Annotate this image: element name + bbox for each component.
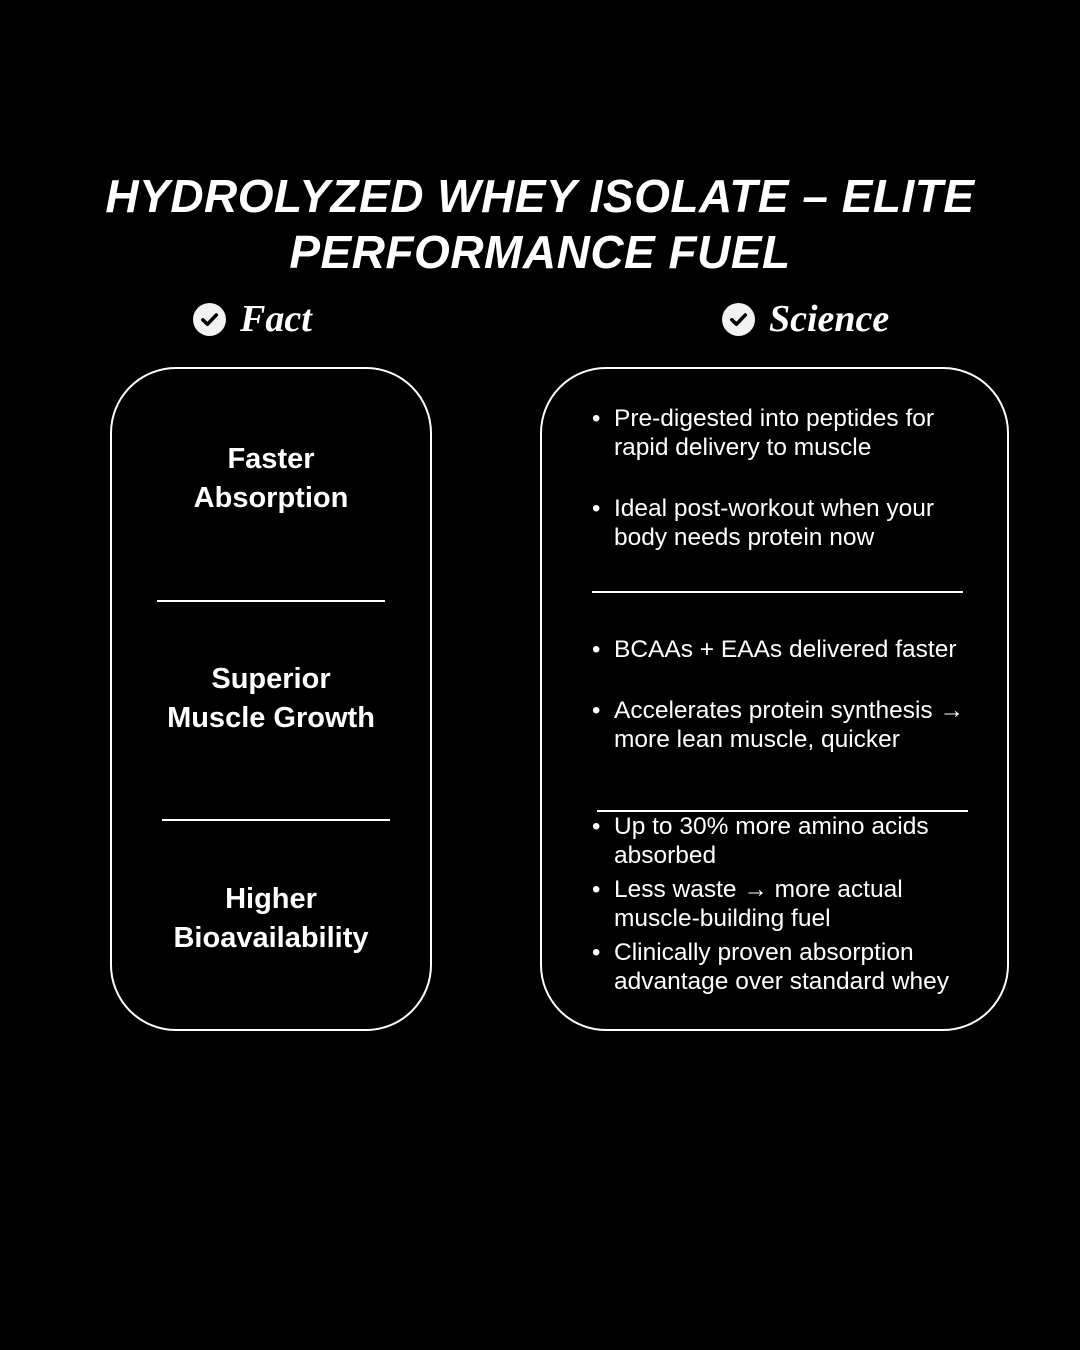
bullet-icon: • (592, 404, 614, 433)
science-group: • Pre-digested into peptides for rapid d… (542, 369, 1007, 586)
fact-divider (157, 600, 385, 602)
fact-card: FasterAbsorption SuperiorMuscle Growth H… (110, 367, 432, 1031)
column-header-science-label: Science (769, 300, 889, 338)
fact-list: FasterAbsorption SuperiorMuscle Growth H… (112, 369, 430, 1029)
science-bullet: • Pre-digested into peptides for rapid d… (592, 404, 967, 462)
column-header-fact: Fact (193, 300, 312, 338)
science-bullet-text: Ideal post-workout when your body needs … (614, 494, 967, 552)
column-header-fact-label: Fact (240, 300, 312, 338)
science-group: • Up to 30% more amino acids absorbed • … (542, 804, 1007, 1029)
science-bullet: • Accelerates protein synthesis → more l… (592, 696, 967, 754)
science-group: • BCAAs + EAAs delivered faster • Accele… (542, 586, 1007, 803)
science-bullet-text: Pre-digested into peptides for rapid del… (614, 404, 967, 462)
science-card: • Pre-digested into peptides for rapid d… (540, 367, 1009, 1031)
science-bullet: • BCAAs + EAAs delivered faster (592, 635, 967, 664)
science-bullet: • Up to 30% more amino acids absorbed (592, 812, 967, 870)
bullet-icon: • (592, 812, 614, 841)
science-bullet-text: Accelerates protein synthesis → more lea… (614, 696, 967, 754)
bullet-icon: • (592, 494, 614, 523)
bullet-icon: • (592, 938, 614, 967)
science-bullet-text: Up to 30% more amino acids absorbed (614, 812, 967, 870)
column-header-science: Science (722, 300, 889, 338)
science-bullet-text: Clinically proven absorption advantage o… (614, 938, 967, 996)
science-bullet-text: BCAAs + EAAs delivered faster (614, 635, 967, 664)
science-bullet: • Ideal post-workout when your body need… (592, 494, 967, 552)
bullet-icon: • (592, 696, 614, 725)
science-list: • Pre-digested into peptides for rapid d… (542, 369, 1007, 1029)
science-bullet: • Less waste → more actual muscle-buildi… (592, 875, 967, 933)
page-title: HYDROLYZED WHEY ISOLATE – ELITE PERFORMA… (90, 168, 990, 280)
fact-item: SuperiorMuscle Growth (112, 589, 430, 809)
science-bullet-text: Less waste → more actual muscle-building… (614, 875, 967, 933)
check-circle-icon (193, 303, 226, 336)
science-bullet: • Clinically proven absorption advantage… (592, 938, 967, 996)
fact-item-label: FasterAbsorption (180, 440, 363, 518)
bullet-icon: • (592, 875, 614, 904)
fact-divider (162, 819, 390, 821)
check-circle-icon (722, 303, 755, 336)
fact-item: HigherBioavailability (112, 809, 430, 1029)
bullet-icon: • (592, 635, 614, 664)
fact-item: FasterAbsorption (112, 369, 430, 589)
fact-item-label: SuperiorMuscle Growth (153, 660, 389, 738)
fact-item-label: HigherBioavailability (159, 880, 382, 958)
